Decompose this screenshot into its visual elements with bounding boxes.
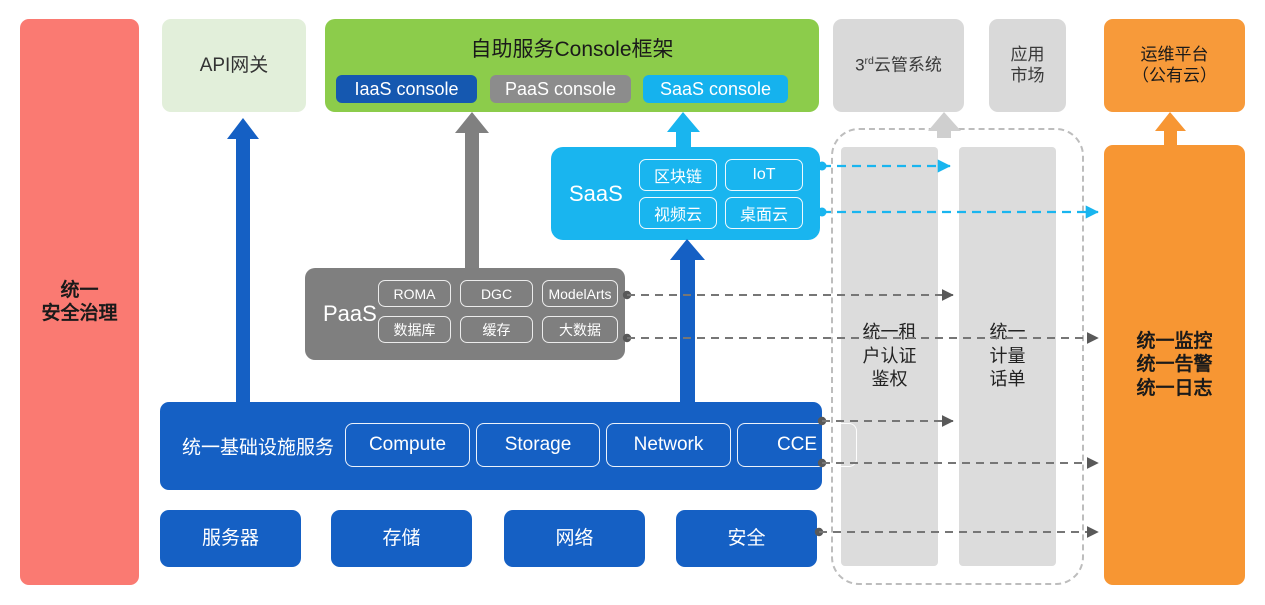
app-market-line2: 市场 <box>1011 66 1045 87</box>
ops-platform-public-cloud-box[interactable]: 运维平台 （公有云） <box>1104 19 1245 112</box>
paas-item-bigdata[interactable]: 大数据 <box>542 316 618 343</box>
security-governance-pillar: 统一 安全治理 <box>20 19 139 585</box>
hardware-item-security-label: 安全 <box>727 527 765 550</box>
iaas-item-compute-label: Compute <box>369 434 446 456</box>
paas-console-chip[interactable]: PaaS console <box>490 75 631 103</box>
paas-item-database[interactable]: 数据库 <box>378 316 451 343</box>
third-party-suffix: 云管系统 <box>874 55 942 74</box>
iaas-item-network-label: Network <box>634 434 704 456</box>
saas-item-iot[interactable]: IoT <box>725 159 803 191</box>
hardware-item-network[interactable]: 网络 <box>504 510 645 567</box>
third-party-superscript: rd <box>865 55 874 67</box>
saas-console-chip[interactable]: SaaS console <box>643 75 788 103</box>
paas-item-modelarts[interactable]: ModelArts <box>542 280 618 307</box>
ops-pillar-line2: 统一告警 <box>1136 353 1212 376</box>
tenant-auth-line3: 鉴权 <box>863 368 917 391</box>
ops-platform-line1: 运维平台 <box>1132 45 1217 66</box>
third-party-cloud-mgmt-label: 3rd云管系统 <box>855 55 942 76</box>
saas-item-video-cloud[interactable]: 视频云 <box>639 197 717 229</box>
api-gateway-label: API网关 <box>200 54 269 77</box>
unified-infrastructure-label: 统一基础设施服务 <box>182 433 334 460</box>
app-market-line1: 应用 <box>1011 45 1045 66</box>
hardware-item-storage[interactable]: 存储 <box>331 510 472 567</box>
saas-item-blockchain[interactable]: 区块链 <box>639 159 717 191</box>
app-market-box[interactable]: 应用 市场 <box>989 19 1066 112</box>
security-governance-line2: 安全治理 <box>41 302 117 325</box>
saas-item-iot-label: IoT <box>752 166 775 184</box>
hardware-item-network-label: 网络 <box>555 527 593 550</box>
saas-item-desktop-cloud[interactable]: 桌面云 <box>725 197 803 229</box>
iaas-item-cce-label: CCE <box>777 434 817 456</box>
security-governance-line1: 统一 <box>41 279 117 302</box>
saas-group: SaaS 区块链 IoT 视频云 桌面云 <box>551 147 820 240</box>
arrow-saas-to-console <box>667 112 700 147</box>
paas-group: PaaS ROMA DGC ModelArts 数据库 缓存 大数据 <box>305 268 625 360</box>
ops-platform-line2: （公有云） <box>1132 66 1217 87</box>
arrow-paas-to-console <box>455 112 489 268</box>
arrow-iaas-to-saas <box>670 239 705 402</box>
saas-item-desktop-cloud-label: 桌面云 <box>740 201 788 225</box>
tenant-auth-line1: 统一租 <box>863 321 917 344</box>
ops-pillar-line3: 统一日志 <box>1136 377 1212 400</box>
iaas-console-label: IaaS console <box>354 79 458 100</box>
iaas-console-chip[interactable]: IaaS console <box>336 75 477 103</box>
paas-item-roma[interactable]: ROMA <box>378 280 451 307</box>
third-party-prefix: 3 <box>855 55 864 74</box>
saas-item-blockchain-label: 区块链 <box>654 163 702 187</box>
iaas-item-compute[interactable]: Compute <box>345 423 470 467</box>
paas-item-database-label: 数据库 <box>394 320 436 340</box>
tenant-auth-line2: 户认证 <box>863 345 917 368</box>
paas-item-cache[interactable]: 缓存 <box>460 316 533 343</box>
metering-line3: 话单 <box>990 368 1026 391</box>
api-gateway-box[interactable]: API网关 <box>162 19 306 112</box>
iaas-item-storage[interactable]: Storage <box>476 423 600 467</box>
paas-item-dgc-label: DGC <box>481 286 512 302</box>
paas-item-dgc[interactable]: DGC <box>460 280 533 307</box>
arrow-iaas-to-api-gateway <box>227 118 259 402</box>
architecture-diagram: 统一 安全治理 API网关 自助服务Console框架 IaaS console… <box>0 0 1265 605</box>
saas-group-label: SaaS <box>569 181 623 207</box>
unified-infrastructure-bar: 统一基础设施服务 Compute Storage Network CCE <box>160 402 822 490</box>
unified-monitoring-pillar: 统一监控 统一告警 统一日志 <box>1104 145 1245 585</box>
iaas-item-storage-label: Storage <box>505 434 572 456</box>
ops-pillar-line1: 统一监控 <box>1136 330 1212 353</box>
third-party-cloud-mgmt-box[interactable]: 3rd云管系统 <box>833 19 964 112</box>
unified-metering-billing-column: 统一 计量 话单 <box>959 147 1056 566</box>
paas-item-modelarts-label: ModelArts <box>548 286 611 302</box>
metering-line2: 计量 <box>990 345 1026 368</box>
metering-line1: 统一 <box>990 321 1026 344</box>
saas-console-label: SaaS console <box>660 79 771 100</box>
hardware-item-security[interactable]: 安全 <box>676 510 817 567</box>
console-framework-panel: 自助服务Console框架 IaaS console PaaS console … <box>325 19 819 112</box>
unified-tenant-auth-column: 统一租 户认证 鉴权 <box>841 147 938 566</box>
hardware-item-storage-label: 存储 <box>382 527 420 550</box>
hardware-item-server[interactable]: 服务器 <box>160 510 301 567</box>
paas-item-bigdata-label: 大数据 <box>559 320 601 340</box>
iaas-item-network[interactable]: Network <box>606 423 731 467</box>
arrow-ops-pillar-to-ops-platform <box>1155 112 1186 145</box>
paas-item-cache-label: 缓存 <box>483 320 511 340</box>
saas-item-video-cloud-label: 视频云 <box>654 201 702 225</box>
paas-console-label: PaaS console <box>505 79 616 100</box>
console-framework-title: 自助服务Console框架 <box>325 33 819 63</box>
paas-group-label: PaaS <box>323 301 377 327</box>
paas-item-roma-label: ROMA <box>394 286 436 302</box>
iaas-item-cce[interactable]: CCE <box>737 423 857 467</box>
hardware-item-server-label: 服务器 <box>202 527 259 550</box>
